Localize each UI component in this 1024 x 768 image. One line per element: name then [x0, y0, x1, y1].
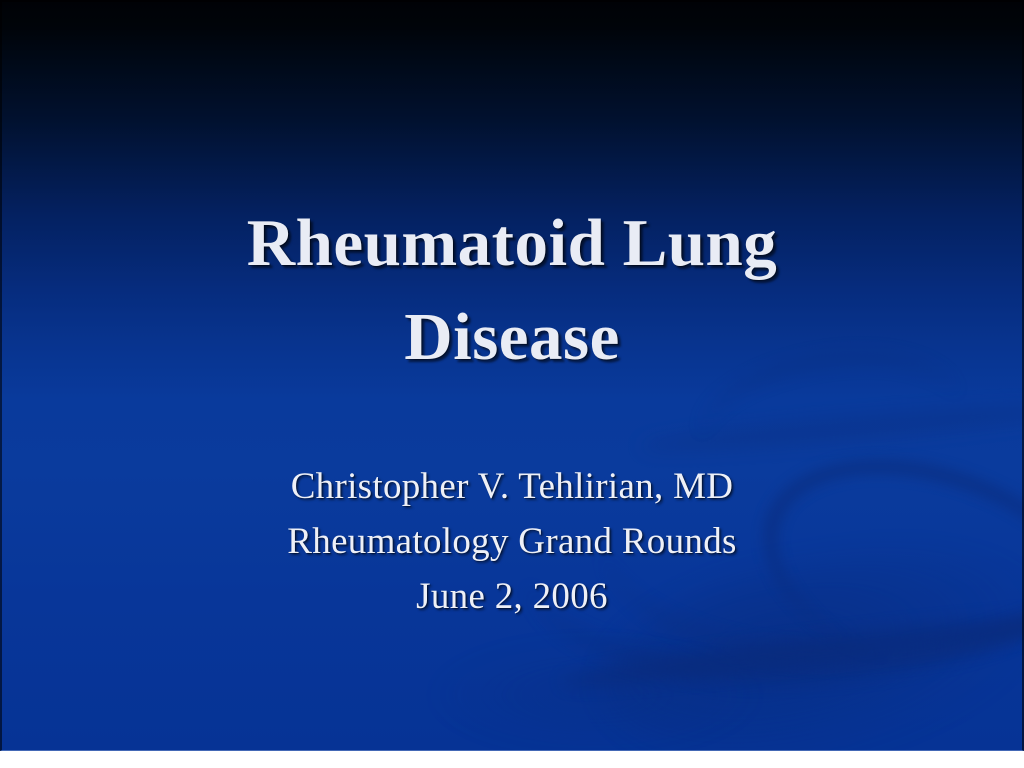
subtitle-date: June 2, 2006: [112, 569, 912, 624]
title-slide: Rheumatoid Lung Disease Christopher V. T…: [0, 0, 1024, 751]
subtitle-presenter: Christopher V. Tehlirian, MD: [112, 459, 912, 514]
slide-title: Rheumatoid Lung Disease: [80, 196, 944, 384]
slide-title-line-1: Rheumatoid Lung: [80, 196, 944, 290]
slide-root: Rheumatoid Lung Disease Christopher V. T…: [0, 0, 1024, 768]
slide-text-layer: Rheumatoid Lung Disease Christopher V. T…: [0, 0, 1024, 751]
subtitle-venue: Rheumatology Grand Rounds: [112, 514, 912, 569]
page-margin-below-slide: [0, 751, 1024, 768]
slide-title-line-2: Disease: [80, 290, 944, 384]
slide-subtitle: Christopher V. Tehlirian, MD Rheumatolog…: [112, 459, 912, 624]
